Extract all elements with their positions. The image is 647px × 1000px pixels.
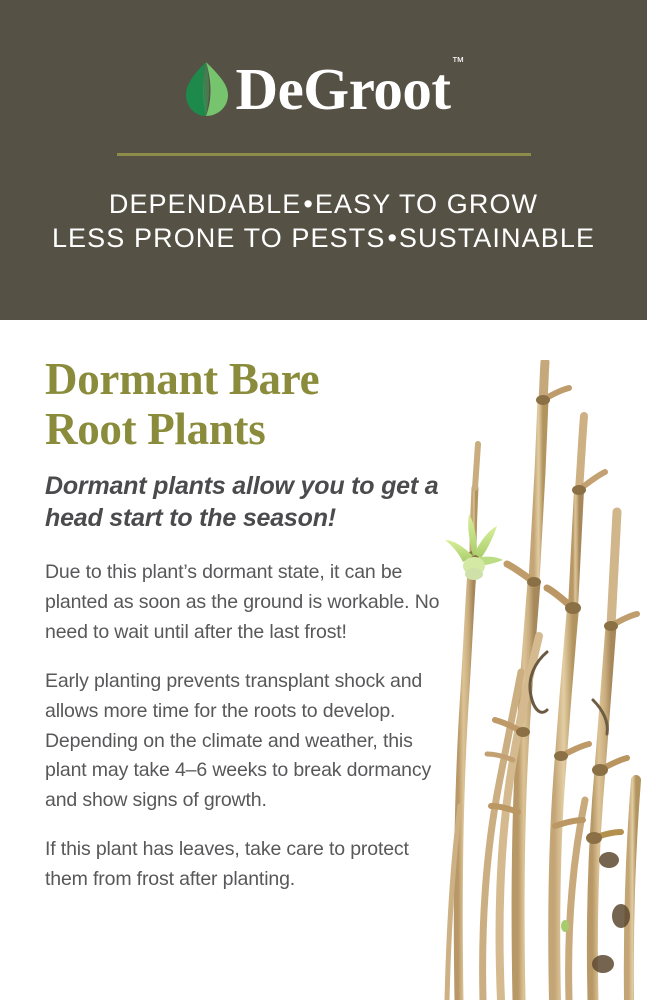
product-info-card: DeGroot™ DEPENDABLE•EASY TO GROW LESS PR… [0,0,647,1000]
tagline-easy-to-grow: EASY TO GROW [315,189,538,219]
tagline-dependable: DEPENDABLE [109,189,302,219]
tagline-sustainable: SUSTAINABLE [399,223,595,253]
content-body: Dormant Bare Root Plants Dormant plants … [0,320,647,1000]
brand-name-text: DeGroot [236,56,451,122]
brand-logo: DeGroot™ [184,56,464,122]
brand-wordmark: DeGroot™ [236,60,464,119]
leaf-logo-icon [184,60,230,118]
text-column: Dormant Bare Root Plants Dormant plants … [45,355,445,895]
brand-tagline: DEPENDABLE•EASY TO GROW LESS PRONE TO PE… [0,187,647,255]
page-title-line-2: Root Plants [45,404,265,454]
page-title-line-1: Dormant Bare [45,354,319,404]
green-bud [445,514,503,580]
tagline-bullet-2: • [385,223,398,253]
body-paragraph-3: If this plant has leaves, take care to p… [45,835,445,894]
header-divider [117,153,531,156]
tagline-line-2: LESS PRONE TO PESTS•SUSTAINABLE [0,221,647,255]
body-paragraph-2: Early planting prevents transplant shock… [45,667,445,815]
page-title: Dormant Bare Root Plants [45,355,445,455]
tagline-bullet-1: • [301,189,314,219]
tagline-line-1: DEPENDABLE•EASY TO GROW [0,187,647,221]
tagline-less-prone: LESS PRONE TO PESTS [52,223,386,253]
body-paragraph-1: Due to this plant’s dormant state, it ca… [45,558,445,647]
trademark-symbol: ™ [451,54,464,69]
brand-header: DeGroot™ DEPENDABLE•EASY TO GROW LESS PR… [0,0,647,320]
page-subtitle: Dormant plants allow you to get a head s… [45,471,445,535]
small-green-bud-lower [561,920,569,932]
